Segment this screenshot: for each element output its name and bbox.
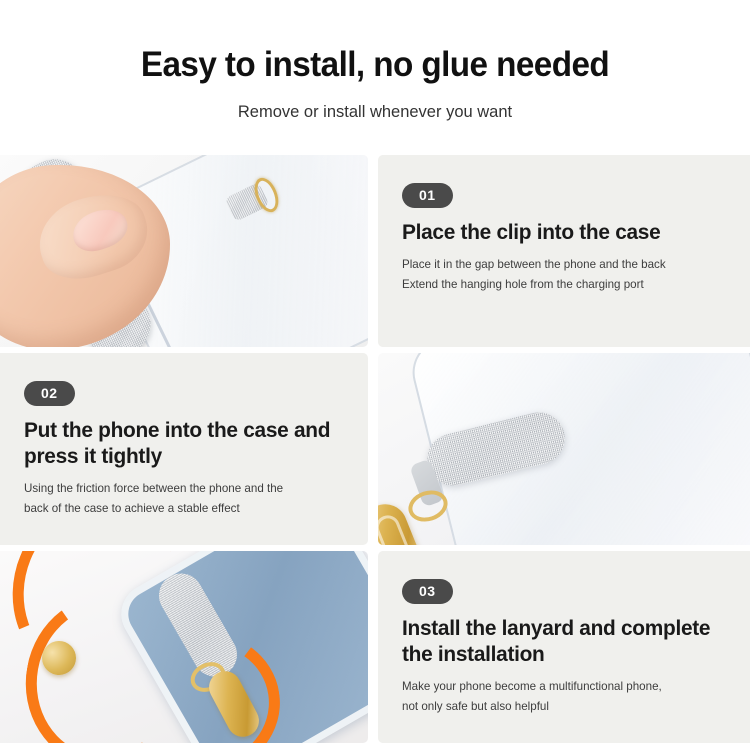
step-photo-02	[378, 353, 750, 545]
step-desc-02-line1: Using the friction force between the pho…	[24, 479, 354, 499]
step-desc-03: Make your phone become a multifunctional…	[402, 677, 732, 717]
header: Easy to install, no glue needed Remove o…	[0, 0, 750, 122]
photo-clip-into-case	[0, 155, 368, 347]
step-badge-02: 02	[24, 381, 75, 406]
step-title-02: Put the phone into the case and press it…	[24, 417, 344, 469]
step-text-01: 01 Place the clip into the case Place it…	[378, 155, 750, 347]
page-title: Easy to install, no glue needed	[19, 46, 732, 84]
step-desc-02: Using the friction force between the pho…	[24, 479, 354, 519]
page-subtitle: Remove or install whenever you want	[0, 102, 750, 122]
step-title-01: Place the clip into the case	[402, 219, 722, 245]
step-desc-03-line1: Make your phone become a multifunctional…	[402, 677, 732, 697]
steps-list: 01 Place the clip into the case Place it…	[0, 155, 750, 749]
step-row-02: 02 Put the phone into the case and press…	[0, 353, 750, 548]
step-photo-03	[0, 551, 368, 743]
step-title-03: Install the lanyard and complete the ins…	[402, 615, 722, 667]
step-desc-02-line2: back of the case to achieve a stable eff…	[24, 499, 354, 519]
step-desc-03-line2: not only safe but also helpful	[402, 697, 732, 717]
photo-case-with-clasp	[378, 353, 750, 545]
step-badge-01: 01	[402, 183, 453, 208]
step-text-03: 03 Install the lanyard and complete the …	[378, 551, 750, 743]
step-desc-01-line1: Place it in the gap between the phone an…	[402, 255, 732, 275]
step-text-02: 02 Put the phone into the case and press…	[0, 353, 368, 545]
step-row-03: 03 Install the lanyard and complete the …	[0, 551, 750, 746]
photo-lanyard-attached	[0, 551, 368, 743]
step-desc-01: Place it in the gap between the phone an…	[402, 255, 732, 295]
product-infographic: Easy to install, no glue needed Remove o…	[0, 0, 750, 750]
step-badge-03: 03	[402, 579, 453, 604]
step-desc-01-line2: Extend the hanging hole from the chargin…	[402, 275, 732, 295]
step-row-01: 01 Place the clip into the case Place it…	[0, 155, 750, 350]
step-photo-01	[0, 155, 368, 347]
